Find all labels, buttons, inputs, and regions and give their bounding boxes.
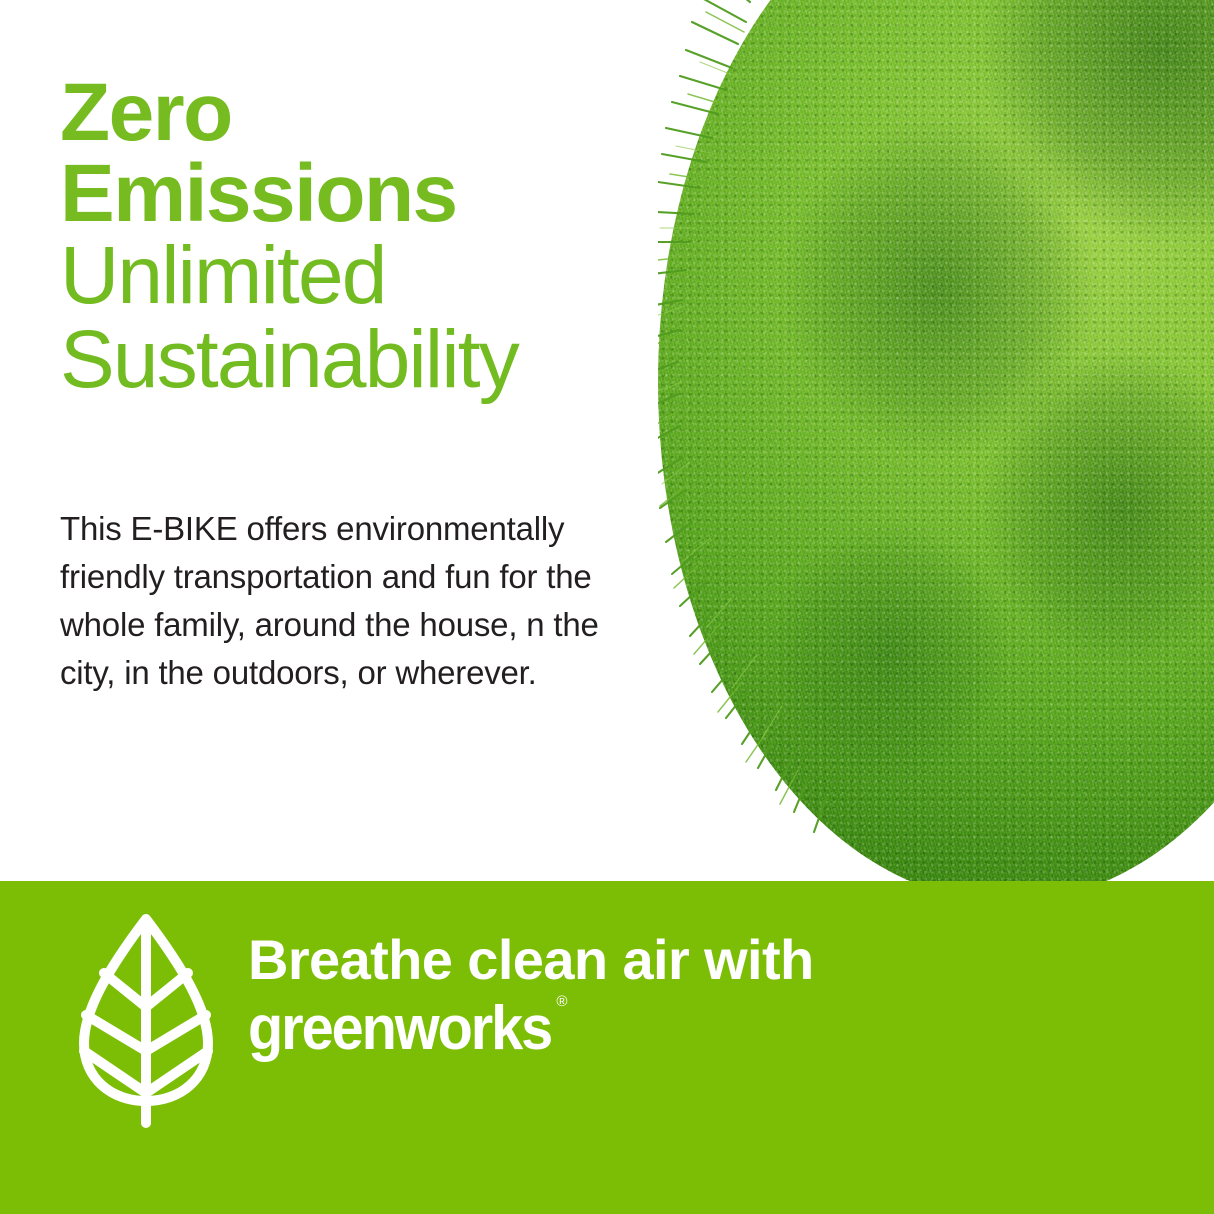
brand-tagline: Breathe clean air with — [248, 931, 814, 990]
poster-canvas: Zero Emissions Unlimited Sustainability … — [0, 0, 1214, 1214]
brand-text-block: Breathe clean air with greenworks® — [248, 911, 814, 1063]
brand-wordmark-text: greenworks — [248, 994, 551, 1063]
headline-line-zero: Zero — [60, 72, 518, 153]
brand-banner-content: Breathe clean air with greenworks® — [78, 911, 814, 1129]
brand-wordmark: greenworks® — [248, 996, 551, 1063]
body-paragraph: This E-BIKE offers environmentally frien… — [60, 505, 650, 696]
headline-block: Zero Emissions Unlimited Sustainability — [60, 72, 518, 402]
grass-globe-sphere — [658, 0, 1214, 902]
brand-banner: Breathe clean air with greenworks® — [0, 881, 1214, 1214]
grass-globe — [658, 0, 1214, 902]
headline-line-emissions: Emissions — [60, 153, 518, 234]
registered-trademark-icon: ® — [556, 994, 567, 1010]
leaf-icon — [78, 911, 214, 1129]
headline-line-sustainability: Sustainability — [60, 318, 518, 402]
headline-line-unlimited: Unlimited — [60, 234, 518, 318]
